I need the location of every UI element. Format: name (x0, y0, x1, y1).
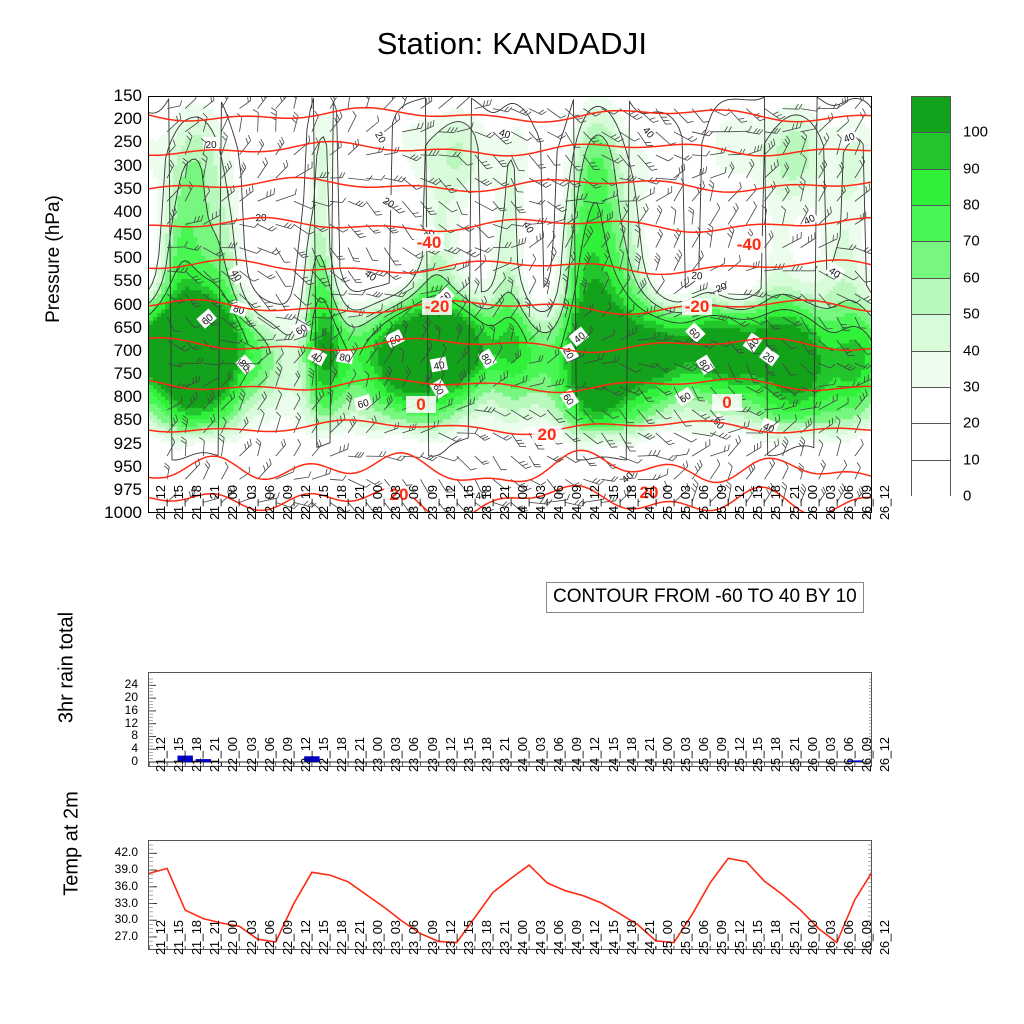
time-tick-label: 24_09 (569, 920, 584, 955)
time-tick-label: 26_03 (823, 737, 838, 772)
time-tick-label: 23_00 (370, 737, 385, 772)
temp-tick-label: 42.0 (82, 845, 138, 859)
colorbar-swatch (912, 242, 950, 278)
pressure-tick-label: 600 (82, 295, 142, 315)
time-tick-label: 26_12 (877, 737, 892, 772)
time-tick-label: 24_18 (624, 485, 639, 520)
time-tick-label: 23_06 (406, 485, 421, 520)
time-tick-label: 22_09 (280, 920, 295, 955)
time-tick-label: 25_06 (696, 737, 711, 772)
time-tick-label: 24_03 (533, 920, 548, 955)
time-tick-label: 25_18 (768, 485, 783, 520)
time-tick-label: 25_03 (678, 485, 693, 520)
time-tick-label: 26_06 (841, 737, 856, 772)
time-tick-label: 26_00 (805, 485, 820, 520)
time-tick-label: 25_21 (787, 920, 802, 955)
time-tick-label: 25_15 (750, 920, 765, 955)
time-tick-label: 24_06 (551, 737, 566, 772)
pressure-tick-label: 925 (82, 434, 142, 454)
pressure-tick-label: 400 (82, 202, 142, 222)
time-tick-label: 25_06 (696, 920, 711, 955)
time-tick-label: 22_06 (262, 737, 277, 772)
time-tick-label: 24_06 (551, 485, 566, 520)
time-tick-label: 25_09 (714, 737, 729, 772)
time-tick-label: 26_06 (841, 485, 856, 520)
temp-tick-label: 36.0 (82, 879, 138, 893)
pressure-tick-label: 550 (82, 271, 142, 291)
time-tick-label: 23_03 (388, 737, 403, 772)
time-tick-label: 25_09 (714, 485, 729, 520)
time-tick-label: 21_21 (207, 737, 222, 772)
colorbar-tick-label: 80 (963, 197, 980, 214)
time-tick-label: 24_00 (515, 920, 530, 955)
time-tick-label: 22_15 (316, 737, 331, 772)
pressure-tick-label: 250 (82, 132, 142, 152)
pressure-tick-label: 700 (82, 341, 142, 361)
colorbar-swatch (912, 315, 950, 351)
time-tick-label: 22_03 (244, 737, 259, 772)
temp-tick-label: 30.0 (82, 912, 138, 926)
time-tick-label: 21_15 (171, 920, 186, 955)
colorbar-swatch (912, 279, 950, 315)
time-tick-label: 23_12 (443, 485, 458, 520)
time-tick-label: 26_09 (859, 485, 874, 520)
colorbar-tick-label: 0 (963, 488, 971, 505)
rain-tick-label: 24 (82, 677, 138, 691)
temp-xaxis-labels: 21_1221_1521_1821_2122_0022_0322_0622_09… (148, 953, 872, 1017)
colorbar-tick-label: 50 (963, 306, 980, 323)
time-tick-label: 24_12 (587, 485, 602, 520)
time-tick-label: 24_21 (642, 737, 657, 772)
pressure-tick-label: 150 (82, 86, 142, 106)
humidity-shading (149, 97, 872, 450)
main-plot-canvas: 2020202020202020204040404040404040404040… (149, 97, 872, 513)
time-tick-label: 22_12 (298, 920, 313, 955)
time-tick-label: 21_18 (189, 920, 204, 955)
time-tick-label: 25_00 (660, 485, 675, 520)
time-tick-label: 23_00 (370, 920, 385, 955)
time-tick-label: 26_03 (823, 485, 838, 520)
time-tick-label: 25_12 (732, 920, 747, 955)
colorbar-swatch (912, 388, 950, 424)
time-tick-label: 21_21 (207, 920, 222, 955)
colorbar[interactable] (911, 96, 951, 496)
colorbar-tick-label: 40 (963, 342, 980, 359)
time-tick-label: 23_15 (461, 485, 476, 520)
time-tick-label: 22_18 (334, 920, 349, 955)
time-tick-label: 23_21 (497, 920, 512, 955)
pressure-tick-label: 450 (82, 225, 142, 245)
time-tick-label: 23_21 (497, 485, 512, 520)
rain-tick-label: 4 (82, 741, 138, 755)
time-tick-label: 22_21 (352, 485, 367, 520)
time-tick-label: 26_03 (823, 920, 838, 955)
time-tick-label: 23_09 (425, 920, 440, 955)
page-title: Station: KANDADJI (0, 26, 1024, 62)
pressure-tick-label: 950 (82, 457, 142, 477)
time-tick-label: 23_18 (479, 485, 494, 520)
main-yaxis-title: Pressure (hPa) (43, 159, 65, 359)
time-tick-label: 23_12 (443, 920, 458, 955)
time-tick-label: 23_18 (479, 737, 494, 772)
rain-yaxis-labels: 04812162024 (80, 672, 138, 767)
rain-tick-label: 12 (82, 716, 138, 730)
time-tick-label: 23_03 (388, 920, 403, 955)
pressure-tick-label: 975 (82, 480, 142, 500)
time-tick-label: 25_15 (750, 737, 765, 772)
time-tick-label: 24_00 (515, 737, 530, 772)
time-tick-label: 23_03 (388, 485, 403, 520)
pressure-tick-label: 500 (82, 248, 142, 268)
time-tick-label: 22_09 (280, 485, 295, 520)
time-tick-label: 22_21 (352, 737, 367, 772)
colorbar-swatch (912, 97, 950, 133)
time-tick-label: 26_00 (805, 737, 820, 772)
time-tick-label: 26_09 (859, 920, 874, 955)
rain-tick-label: 8 (82, 728, 138, 742)
rain-xaxis-labels: 21_1221_1521_1821_2122_0022_0322_0622_09… (148, 770, 872, 834)
time-tick-label: 26_12 (877, 920, 892, 955)
time-tick-label: 26_12 (877, 485, 892, 520)
time-tick-label: 25_03 (678, 737, 693, 772)
colorbar-swatch (912, 352, 950, 388)
time-tick-label: 23_15 (461, 737, 476, 772)
pressure-tick-label: 800 (82, 387, 142, 407)
time-tick-label: 21_18 (189, 737, 204, 772)
rain-tick-label: 16 (82, 703, 138, 717)
time-tick-label: 22_00 (225, 737, 240, 772)
time-tick-label: 22_00 (225, 920, 240, 955)
time-tick-label: 25_15 (750, 485, 765, 520)
time-tick-label: 21_12 (153, 920, 168, 955)
time-tick-label: 21_18 (189, 485, 204, 520)
colorbar-swatch (912, 170, 950, 206)
time-tick-label: 22_09 (280, 737, 295, 772)
time-tick-label: 26_09 (859, 737, 874, 772)
time-tick-label: 24_12 (587, 737, 602, 772)
time-tick-label: 23_12 (443, 737, 458, 772)
colorbar-tick-label: 100 (963, 124, 988, 141)
colorbar-swatch (912, 206, 950, 242)
time-tick-label: 24_03 (533, 737, 548, 772)
colorbar-tick-label: 30 (963, 378, 980, 395)
colorbar-tick-label: 20 (963, 415, 980, 432)
time-tick-label: 23_09 (425, 485, 440, 520)
rain-tick-label: 20 (82, 690, 138, 704)
time-tick-label: 22_06 (262, 920, 277, 955)
time-tick-label: 24_15 (606, 737, 621, 772)
colorbar-swatch (912, 133, 950, 169)
colorbar-tick-label: 60 (963, 269, 980, 286)
time-tick-label: 22_18 (334, 485, 349, 520)
time-height-cross-section-plot[interactable]: 2020202020202020204040404040404040404040… (148, 96, 872, 513)
time-tick-label: 22_18 (334, 737, 349, 772)
time-tick-label: 21_15 (171, 737, 186, 772)
time-tick-label: 24_18 (624, 920, 639, 955)
pressure-tick-label: 650 (82, 318, 142, 338)
time-tick-label: 25_21 (787, 485, 802, 520)
time-tick-label: 25_06 (696, 485, 711, 520)
time-tick-label: 23_06 (406, 737, 421, 772)
time-tick-label: 25_18 (768, 920, 783, 955)
time-tick-label: 22_03 (244, 920, 259, 955)
time-tick-label: 24_06 (551, 920, 566, 955)
time-tick-label: 24_12 (587, 920, 602, 955)
time-tick-label: 25_09 (714, 920, 729, 955)
temp-tick-label: 39.0 (82, 862, 138, 876)
colorbar-tick-label: 10 (963, 451, 980, 468)
time-tick-label: 22_03 (244, 485, 259, 520)
time-tick-label: 21_12 (153, 737, 168, 772)
time-tick-label: 25_18 (768, 737, 783, 772)
main-xaxis-labels: 21_1221_1521_1821_2122_0022_0322_0622_09… (148, 518, 872, 582)
time-tick-label: 22_12 (298, 737, 313, 772)
time-tick-label: 22_12 (298, 485, 313, 520)
time-tick-label: 24_15 (606, 485, 621, 520)
pressure-tick-label: 350 (82, 179, 142, 199)
time-tick-label: 23_15 (461, 920, 476, 955)
time-tick-label: 24_21 (642, 485, 657, 520)
time-tick-label: 25_03 (678, 920, 693, 955)
time-tick-label: 24_03 (533, 485, 548, 520)
colorbar-swatch (912, 461, 950, 497)
time-tick-label: 22_06 (262, 485, 277, 520)
time-tick-label: 25_12 (732, 737, 747, 772)
time-tick-label: 25_00 (660, 737, 675, 772)
time-tick-label: 21_21 (207, 485, 222, 520)
time-tick-label: 24_15 (606, 920, 621, 955)
rain-tick-label: 0 (82, 754, 138, 768)
pressure-tick-label: 200 (82, 109, 142, 129)
time-tick-label: 24_09 (569, 485, 584, 520)
time-tick-label: 23_09 (425, 737, 440, 772)
time-tick-label: 25_12 (732, 485, 747, 520)
temp-tick-label: 27.0 (82, 929, 138, 943)
temp-yaxis-labels: 27.030.033.036.039.042.0 (80, 840, 138, 950)
pressure-tick-label: 850 (82, 410, 142, 430)
time-tick-label: 23_21 (497, 737, 512, 772)
time-tick-label: 23_18 (479, 920, 494, 955)
time-tick-label: 24_21 (642, 920, 657, 955)
time-tick-label: 22_15 (316, 485, 331, 520)
pressure-tick-label: 750 (82, 364, 142, 384)
time-tick-label: 25_21 (787, 737, 802, 772)
time-tick-label: 23_00 (370, 485, 385, 520)
time-tick-label: 22_15 (316, 920, 331, 955)
colorbar-tick-label: 90 (963, 160, 980, 177)
time-tick-label: 22_00 (225, 485, 240, 520)
time-tick-label: 24_00 (515, 485, 530, 520)
time-tick-label: 24_09 (569, 737, 584, 772)
pressure-tick-label: 1000 (82, 503, 142, 523)
time-tick-label: 21_12 (153, 485, 168, 520)
time-tick-label: 21_15 (171, 485, 186, 520)
temp-tick-label: 33.0 (82, 896, 138, 910)
main-yaxis-labels: 1502002503003504004505005506006507007508… (80, 96, 142, 513)
contour-caption: CONTOUR FROM -60 TO 40 BY 10 (546, 582, 864, 613)
time-tick-label: 26_00 (805, 920, 820, 955)
colorbar-swatch (912, 424, 950, 460)
time-tick-label: 24_18 (624, 737, 639, 772)
time-tick-label: 26_06 (841, 920, 856, 955)
time-tick-label: 25_00 (660, 920, 675, 955)
colorbar-tick-label: 70 (963, 233, 980, 250)
time-tick-label: 22_21 (352, 920, 367, 955)
time-tick-label: 23_06 (406, 920, 421, 955)
pressure-tick-label: 300 (82, 156, 142, 176)
